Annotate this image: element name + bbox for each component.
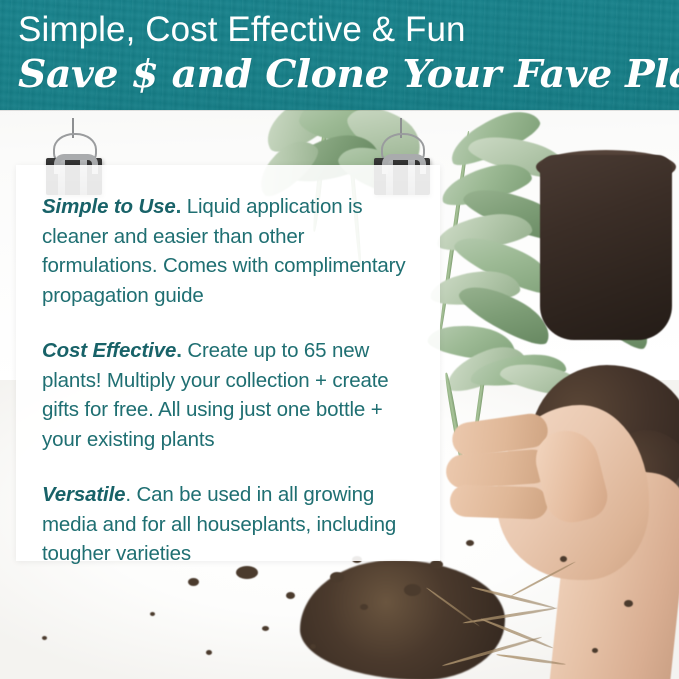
header-text-group: Simple, Cost Effective & Fun Save $ and … bbox=[18, 6, 671, 99]
feature-lead: Versatile bbox=[42, 483, 125, 506]
header-banner: Simple, Cost Effective & Fun Save $ and … bbox=[0, 0, 679, 110]
headline-primary: Simple, Cost Effective & Fun bbox=[18, 6, 671, 54]
feature-item-versatile: Versatile. Can be used in all growing me… bbox=[42, 480, 416, 569]
feature-list: Simple to Use. Liquid application is cle… bbox=[16, 165, 440, 569]
feature-item-simple-to-use: Simple to Use. Liquid application is cle… bbox=[42, 192, 416, 310]
infographic-root: Simple, Cost Effective & Fun Save $ and … bbox=[0, 0, 679, 679]
feature-lead: Simple to Use bbox=[42, 195, 176, 218]
finger-ring bbox=[449, 484, 548, 519]
feature-lead: Cost Effective bbox=[42, 339, 176, 362]
plant-pot bbox=[540, 155, 672, 340]
feature-card: Simple to Use. Liquid application is cle… bbox=[16, 165, 440, 561]
feature-item-cost-effective: Cost Effective. Create up to 65 new plan… bbox=[42, 336, 416, 454]
headline-secondary: Save $ and Clone Your Fave Plants! bbox=[18, 49, 679, 99]
